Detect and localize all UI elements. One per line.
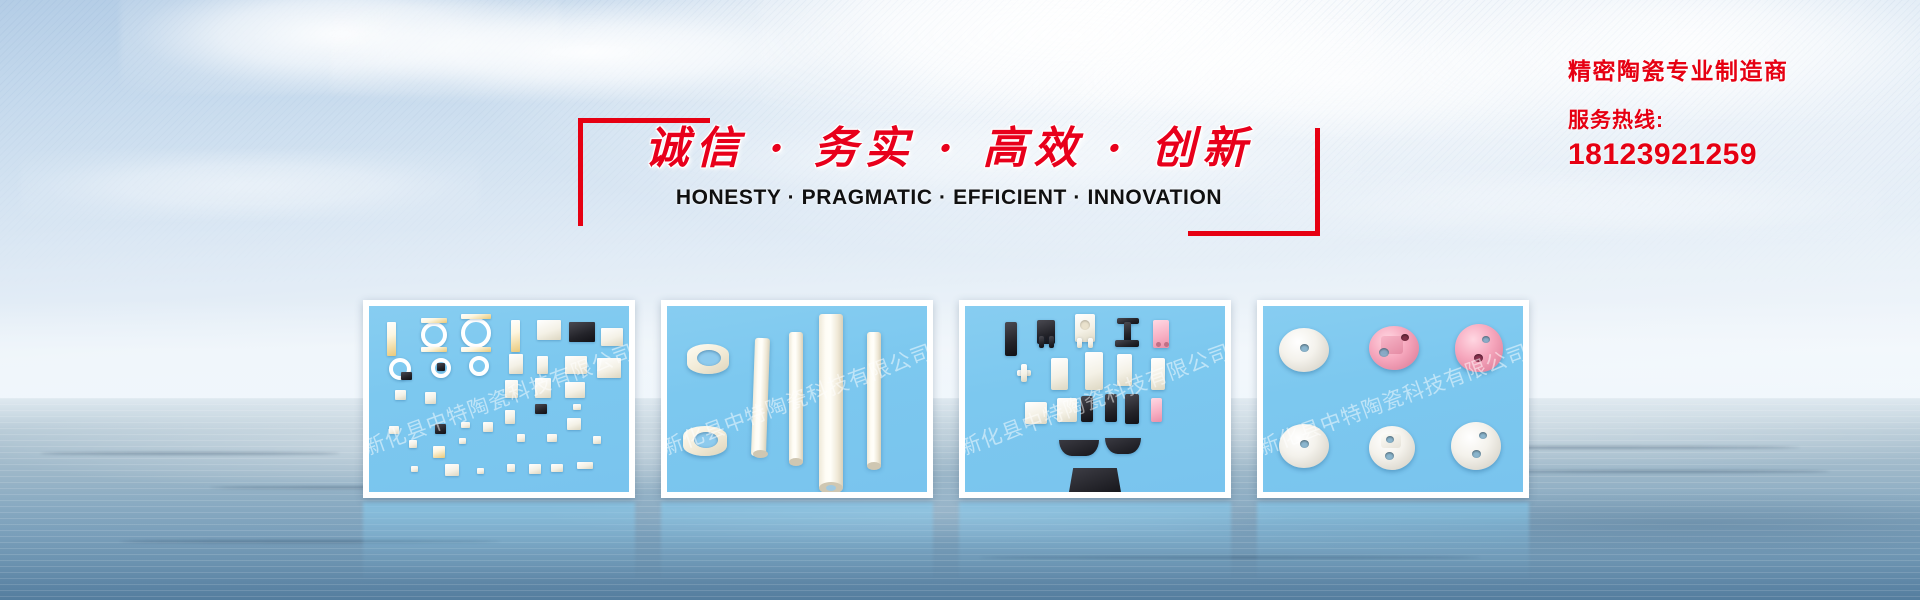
hero-banner: 诚信 · 务实 · 高效 · 创新 HONESTY · PRAGMATIC · …: [0, 0, 1920, 600]
panel-image: 新化县中特陶瓷科技有限公司: [667, 306, 927, 492]
slogan-english: HONESTY · PRAGMATIC · EFFICIENT · INNOVA…: [578, 186, 1320, 210]
company-tagline: 精密陶瓷专业制造商: [1568, 52, 1908, 86]
hotline-number[interactable]: 18123921259: [1568, 138, 1908, 172]
slogan-chinese: 诚信 · 务实 · 高效 · 创新: [578, 112, 1320, 176]
product-gallery: 新化县中特陶瓷科技有限公司 新化县中特陶瓷科技有限公司: [363, 300, 1579, 498]
product-panel-smd-components[interactable]: 新化县中特陶瓷科技有限公司: [363, 300, 635, 498]
slogan-block: 诚信 · 务实 · 高效 · 创新 HONESTY · PRAGMATIC · …: [578, 118, 1320, 236]
hotline-label: 服务热线:: [1568, 104, 1908, 134]
panel-watermark: 新化县中特陶瓷科技有限公司: [369, 336, 629, 462]
panel-image: 新化县中特陶瓷科技有限公司: [965, 306, 1225, 492]
contact-block: 精密陶瓷专业制造商 服务热线: 18123921259: [1568, 52, 1908, 172]
panel-image: 新化县中特陶瓷科技有限公司: [1263, 306, 1523, 492]
panel-image: 新化县中特陶瓷科技有限公司: [369, 306, 629, 492]
product-panel-ceramic-tubes[interactable]: 新化县中特陶瓷科技有限公司: [661, 300, 933, 498]
product-panel-ceramic-blocks[interactable]: 新化县中特陶瓷科技有限公司: [959, 300, 1231, 498]
product-panel-ceramic-discs[interactable]: 新化县中特陶瓷科技有限公司: [1257, 300, 1529, 498]
